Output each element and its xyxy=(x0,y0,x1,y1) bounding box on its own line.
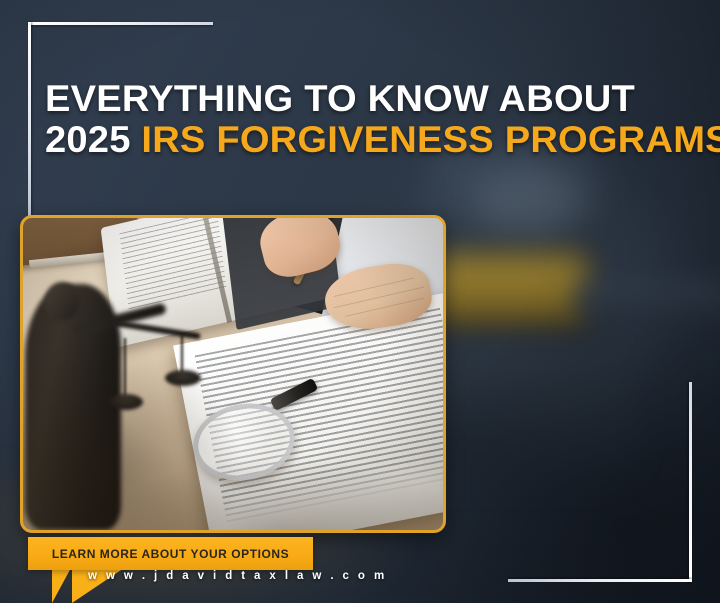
cta-banner-tail xyxy=(52,566,72,603)
headline-line-1: EVERYTHING TO KNOW ABOUT xyxy=(45,78,720,119)
cta-button[interactable]: LEARN MORE ABOUT YOUR OPTIONS xyxy=(28,537,313,570)
headline-line-2: 2025 IRS FORGIVENESS PROGRAMS xyxy=(45,119,720,160)
headline: EVERYTHING TO KNOW ABOUT 2025 IRS FORGIV… xyxy=(45,78,710,160)
website-url[interactable]: w w w . j d a v i d t a x l a w . c o m xyxy=(88,570,387,582)
cta-label: LEARN MORE ABOUT YOUR OPTIONS xyxy=(52,547,289,561)
headline-year: 2025 xyxy=(45,119,141,160)
hero-photo-card xyxy=(20,215,446,533)
desk-shadows xyxy=(23,218,443,530)
headline-accent-text: IRS FORGIVENESS PROGRAMS xyxy=(141,119,720,160)
promo-banner: EVERYTHING TO KNOW ABOUT 2025 IRS FORGIV… xyxy=(0,0,720,603)
hero-photo xyxy=(23,218,443,530)
